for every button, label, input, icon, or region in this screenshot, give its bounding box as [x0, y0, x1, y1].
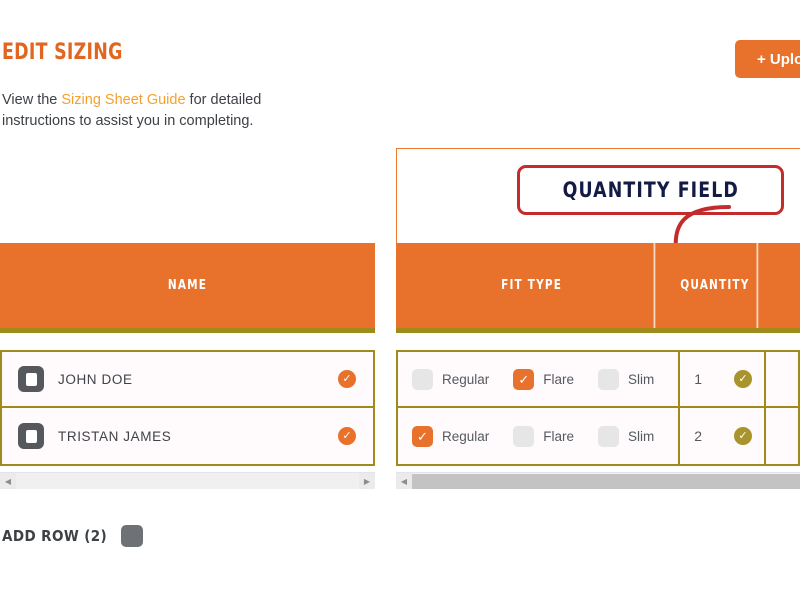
add-row-button[interactable]: ADD ROW (2): [2, 525, 143, 547]
delete-row-icon[interactable]: [18, 423, 44, 449]
quantity-confirmed-icon[interactable]: ✓: [734, 370, 752, 388]
cell-next-column: [766, 352, 798, 406]
fit-quantity-table-panel: FIT TYPE QUANTITY ✓ Regular ✓ Flare ✓: [396, 243, 800, 489]
row-confirmed-icon[interactable]: ✓: [338, 427, 356, 445]
cell-fit-type: ✓ Regular ✓ Flare ✓ Slim: [398, 352, 680, 406]
fit-label-flare: Flare: [543, 372, 574, 387]
column-header-quantity[interactable]: QUANTITY: [674, 243, 758, 328]
cell-quantity[interactable]: 1 ✓: [680, 352, 766, 406]
cell-name: TRISTAN JAMES: [2, 408, 373, 464]
column-header-name[interactable]: NAME: [19, 243, 357, 328]
cell-fit-type: ✓ Regular ✓ Flare ✓ Slim: [398, 408, 680, 464]
scroll-left-icon[interactable]: ◀: [396, 473, 412, 489]
scroll-right-icon[interactable]: ▶: [359, 473, 375, 489]
column-header-fit-type[interactable]: FIT TYPE: [410, 243, 656, 328]
scroll-thumb[interactable]: [412, 474, 800, 489]
edit-sizing-page: EDIT SIZING View the Sizing Sheet Guide …: [0, 0, 800, 600]
name-table-rows: JOHN DOE ✓ TRISTAN JAMES ✓: [0, 350, 375, 466]
fit-quantity-table-scrollbar[interactable]: ◀: [396, 472, 800, 489]
name-table-panel: NAME JOHN DOE ✓ TRISTAN JAMES ✓ ◀ ▶: [0, 243, 375, 489]
fit-option-flare[interactable]: ✓ Flare: [513, 369, 574, 390]
checkbox-regular[interactable]: ✓: [412, 426, 433, 447]
checkbox-flare[interactable]: ✓: [513, 369, 534, 390]
fit-option-flare[interactable]: ✓ Flare: [513, 426, 574, 447]
quantity-field-callout: QUANTITY FIELD: [517, 165, 784, 215]
name-table-scrollbar[interactable]: ◀ ▶: [0, 472, 375, 489]
fit-quantity-table-header: FIT TYPE QUANTITY: [396, 243, 800, 333]
checkbox-flare[interactable]: ✓: [513, 426, 534, 447]
fit-label-regular: Regular: [442, 372, 489, 387]
cell-quantity[interactable]: 2 ✓: [680, 408, 766, 464]
fit-option-slim[interactable]: ✓ Slim: [598, 426, 654, 447]
quantity-confirmed-icon[interactable]: ✓: [734, 427, 752, 445]
fit-label-flare: Flare: [543, 429, 574, 444]
cell-next-column: [766, 408, 798, 464]
column-header-next[interactable]: [764, 243, 798, 328]
scroll-left-icon[interactable]: ◀: [0, 473, 16, 489]
add-row-icon[interactable]: [121, 525, 143, 547]
delete-row-icon[interactable]: [18, 366, 44, 392]
checkbox-regular[interactable]: ✓: [412, 369, 433, 390]
name-table-header: NAME: [0, 243, 375, 333]
table-row: TRISTAN JAMES ✓: [0, 408, 375, 466]
intro-text-before: View the: [2, 92, 61, 108]
cell-name: JOHN DOE: [2, 352, 373, 406]
checkbox-slim[interactable]: ✓: [598, 426, 619, 447]
intro-text: View the Sizing Sheet Guide for detailed…: [2, 90, 332, 132]
fit-option-regular[interactable]: ✓ Regular: [412, 369, 489, 390]
fit-label-slim: Slim: [628, 372, 654, 387]
fit-quantity-table-rows: ✓ Regular ✓ Flare ✓ Slim 1 ✓: [396, 350, 800, 466]
table-row: ✓ Regular ✓ Flare ✓ Slim 1 ✓: [396, 350, 800, 408]
table-row: JOHN DOE ✓: [0, 350, 375, 408]
sizing-sheet-guide-link[interactable]: Sizing Sheet Guide: [61, 92, 185, 108]
scroll-track[interactable]: [16, 473, 359, 489]
row-confirmed-icon[interactable]: ✓: [338, 370, 356, 388]
callout-label: QUANTITY FIELD: [562, 178, 738, 202]
fit-option-slim[interactable]: ✓ Slim: [598, 369, 654, 390]
table-row: ✓ Regular ✓ Flare ✓ Slim 2 ✓: [396, 408, 800, 466]
checkbox-slim[interactable]: ✓: [598, 369, 619, 390]
upload-button[interactable]: + Upload: [735, 40, 800, 78]
row-name-value: JOHN DOE: [58, 372, 133, 387]
quantity-value: 2: [694, 428, 702, 444]
fit-label-slim: Slim: [628, 429, 654, 444]
scroll-track[interactable]: [412, 473, 800, 489]
fit-label-regular: Regular: [442, 429, 489, 444]
page-title: EDIT SIZING: [2, 40, 123, 65]
row-name-value: TRISTAN JAMES: [58, 429, 171, 444]
fit-option-regular[interactable]: ✓ Regular: [412, 426, 489, 447]
add-row-label: ADD ROW (2): [2, 527, 107, 545]
quantity-value: 1: [694, 371, 702, 387]
